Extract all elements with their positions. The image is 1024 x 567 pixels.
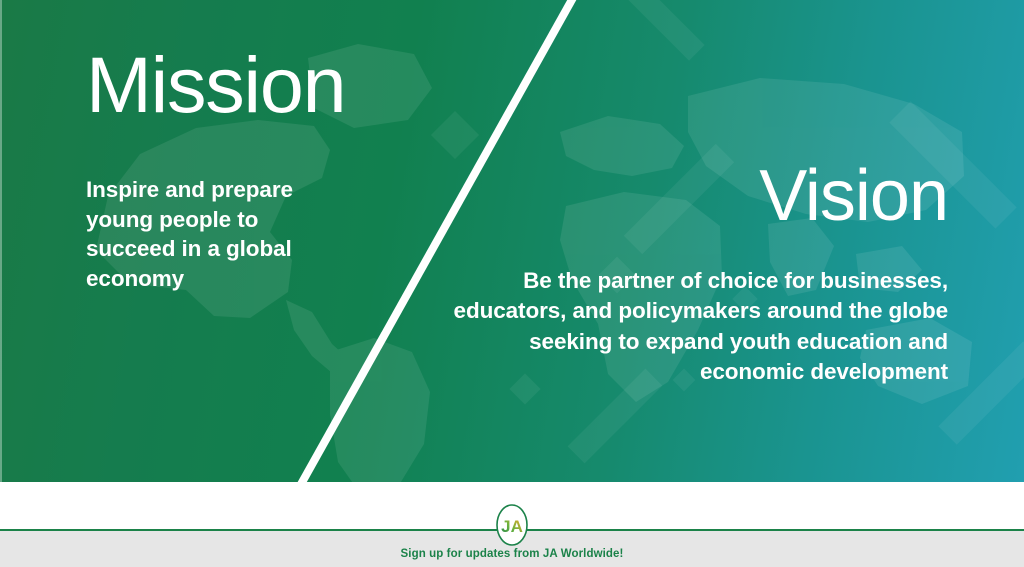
slide-root: Mission Inspire and prepare young people… — [0, 0, 1024, 567]
ja-worldwide-logo-icon[interactable]: JA — [494, 502, 530, 548]
svg-text:JA: JA — [501, 517, 523, 536]
hero-banner: Mission Inspire and prepare young people… — [0, 0, 1024, 482]
signup-prompt-text[interactable]: Sign up for updates from JA Worldwide! — [0, 548, 1024, 560]
mission-block: Mission Inspire and prepare young people… — [86, 46, 426, 293]
footer: JA Sign up for updates from JA Worldwide… — [0, 482, 1024, 567]
vision-body-text: Be the partner of choice for businesses,… — [428, 266, 948, 388]
vision-title: Vision — [428, 160, 948, 232]
vision-block: Vision Be the partner of choice for busi… — [428, 160, 948, 388]
hero-left-edge-accent — [0, 0, 2, 482]
mission-title: Mission — [86, 46, 426, 123]
mission-body-text: Inspire and prepare young people to succ… — [86, 175, 336, 293]
